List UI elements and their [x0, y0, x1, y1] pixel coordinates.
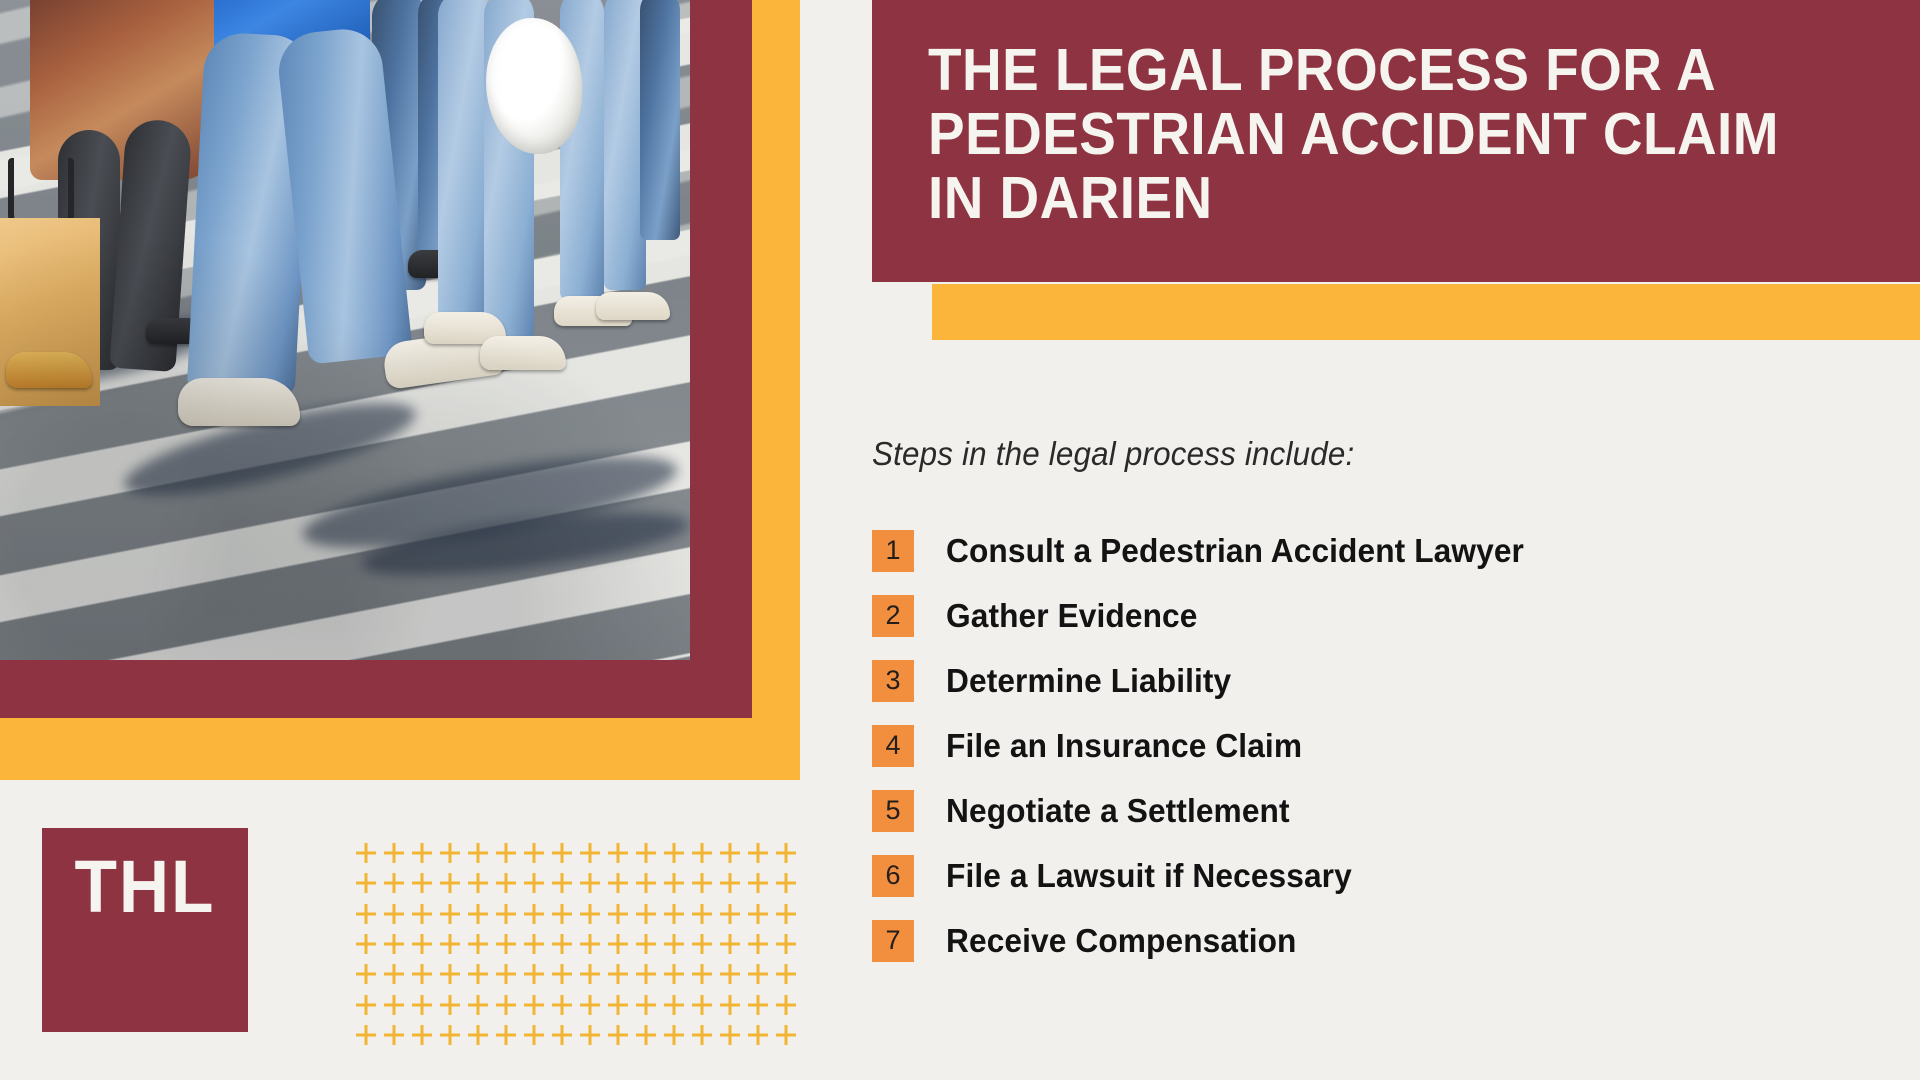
plus-mark-icon	[548, 899, 576, 929]
plus-mark-icon	[604, 959, 632, 989]
plus-mark-icon	[660, 929, 688, 959]
plus-mark-icon	[688, 929, 716, 959]
plus-mark-icon	[632, 838, 660, 868]
plus-mark-icon	[660, 838, 688, 868]
title-block: THE LEGAL PROCESS FOR A PEDESTRIAN ACCID…	[872, 0, 1920, 282]
plus-mark-icon	[604, 929, 632, 959]
page-title: THE LEGAL PROCESS FOR A PEDESTRIAN ACCID…	[928, 38, 1817, 230]
plus-mark-icon	[464, 1020, 492, 1050]
plus-mark-icon	[716, 899, 744, 929]
plus-mark-icon	[408, 959, 436, 989]
step-label: Determine Liability	[946, 662, 1231, 700]
plus-mark-icon	[548, 959, 576, 989]
plus-mark-icon	[352, 929, 380, 959]
plus-mark-icon	[492, 929, 520, 959]
plus-mark-icon	[660, 959, 688, 989]
plus-mark-icon	[436, 989, 464, 1019]
step-label: Gather Evidence	[946, 597, 1197, 635]
plus-mark-icon	[716, 1020, 744, 1050]
plus-mark-icon	[436, 838, 464, 868]
plus-mark-icon	[576, 899, 604, 929]
plus-mark-icon	[492, 868, 520, 898]
plus-mark-icon	[520, 959, 548, 989]
plus-mark-icon	[576, 1020, 604, 1050]
plus-mark-icon	[464, 959, 492, 989]
plus-mark-icon	[548, 989, 576, 1019]
step-number-badge: 1	[872, 530, 914, 572]
plus-mark-icon	[436, 959, 464, 989]
plus-mark-icon	[688, 838, 716, 868]
asphalt-texture	[0, 0, 690, 660]
plus-mark-icon	[548, 868, 576, 898]
plus-mark-icon	[520, 929, 548, 959]
plus-mark-icon	[464, 929, 492, 959]
step-number-badge: 5	[872, 790, 914, 832]
plus-mark-icon	[632, 899, 660, 929]
plus-mark-icon	[352, 899, 380, 929]
step-row: 3Determine Liability	[872, 648, 1892, 713]
plus-mark-icon	[408, 929, 436, 959]
plus-mark-icon	[772, 868, 800, 898]
plus-mark-icon	[660, 989, 688, 1019]
plus-mark-icon	[576, 929, 604, 959]
plus-mark-icon	[576, 989, 604, 1019]
step-number-badge: 6	[872, 855, 914, 897]
plus-mark-icon	[716, 989, 744, 1019]
step-number-badge: 2	[872, 595, 914, 637]
crosswalk-photo	[0, 0, 690, 660]
plus-mark-icon	[688, 868, 716, 898]
step-number-badge: 4	[872, 725, 914, 767]
plus-mark-icon	[380, 1020, 408, 1050]
plus-mark-icon	[408, 989, 436, 1019]
plus-mark-icon	[716, 868, 744, 898]
plus-mark-icon	[352, 868, 380, 898]
plus-mark-icon	[604, 868, 632, 898]
plus-mark-icon	[380, 838, 408, 868]
plus-mark-icon	[492, 1020, 520, 1050]
plus-mark-icon	[744, 959, 772, 989]
plus-mark-icon	[380, 989, 408, 1019]
steps-list: 1Consult a Pedestrian Accident Lawyer2Ga…	[872, 518, 1892, 973]
step-label: File a Lawsuit if Necessary	[946, 857, 1352, 895]
step-row: 5Negotiate a Settlement	[872, 778, 1892, 843]
plus-mark-icon	[436, 899, 464, 929]
plus-mark-icon	[492, 989, 520, 1019]
plus-mark-icon	[688, 959, 716, 989]
plus-mark-icon	[380, 899, 408, 929]
plus-mark-icon	[688, 1020, 716, 1050]
plus-mark-icon	[716, 838, 744, 868]
plus-mark-icon	[632, 868, 660, 898]
plus-pattern-decoration	[352, 838, 800, 1050]
step-label: Consult a Pedestrian Accident Lawyer	[946, 532, 1524, 570]
infographic-canvas: THL THE LEGAL PROCESS FOR A PEDESTRIAN A…	[0, 0, 1920, 1080]
step-number-badge: 7	[872, 920, 914, 962]
plus-mark-icon	[436, 929, 464, 959]
plus-mark-icon	[688, 899, 716, 929]
plus-mark-icon	[772, 989, 800, 1019]
plus-mark-icon	[604, 899, 632, 929]
plus-mark-icon	[688, 989, 716, 1019]
plus-mark-icon	[660, 899, 688, 929]
plus-mark-icon	[716, 929, 744, 959]
plus-mark-icon	[492, 959, 520, 989]
plus-mark-icon	[408, 868, 436, 898]
steps-intro-text: Steps in the legal process include:	[872, 435, 1354, 473]
plus-mark-icon	[632, 1020, 660, 1050]
step-row: 2Gather Evidence	[872, 583, 1892, 648]
plus-mark-icon	[576, 959, 604, 989]
step-label: File an Insurance Claim	[946, 727, 1302, 765]
plus-mark-icon	[604, 989, 632, 1019]
plus-mark-icon	[520, 868, 548, 898]
plus-mark-icon	[464, 989, 492, 1019]
plus-mark-icon	[744, 899, 772, 929]
plus-mark-icon	[352, 989, 380, 1019]
plus-mark-icon	[632, 989, 660, 1019]
title-accent-bar	[932, 284, 1920, 340]
plus-mark-icon	[492, 838, 520, 868]
plus-mark-icon	[464, 868, 492, 898]
plus-mark-icon	[716, 959, 744, 989]
plus-mark-icon	[632, 929, 660, 959]
step-label: Receive Compensation	[946, 922, 1297, 960]
plus-mark-icon	[408, 838, 436, 868]
plus-mark-icon	[520, 989, 548, 1019]
step-row: 6File a Lawsuit if Necessary	[872, 843, 1892, 908]
plus-mark-icon	[352, 838, 380, 868]
plus-mark-icon	[352, 1020, 380, 1050]
plus-mark-icon	[772, 1020, 800, 1050]
plus-mark-icon	[520, 838, 548, 868]
plus-mark-icon	[436, 868, 464, 898]
plus-mark-icon	[380, 959, 408, 989]
step-row: 7Receive Compensation	[872, 908, 1892, 973]
step-row: 1Consult a Pedestrian Accident Lawyer	[872, 518, 1892, 583]
plus-mark-icon	[380, 929, 408, 959]
plus-mark-icon	[576, 868, 604, 898]
plus-mark-icon	[744, 929, 772, 959]
plus-mark-icon	[576, 838, 604, 868]
plus-mark-icon	[408, 1020, 436, 1050]
plus-mark-icon	[660, 868, 688, 898]
plus-mark-icon	[380, 868, 408, 898]
plus-mark-icon	[772, 838, 800, 868]
plus-mark-icon	[744, 989, 772, 1019]
plus-mark-icon	[548, 838, 576, 868]
step-row: 4File an Insurance Claim	[872, 713, 1892, 778]
plus-mark-icon	[744, 868, 772, 898]
plus-mark-icon	[772, 899, 800, 929]
plus-mark-icon	[408, 899, 436, 929]
plus-mark-icon	[436, 1020, 464, 1050]
plus-mark-icon	[548, 1020, 576, 1050]
thl-logo: THL	[42, 828, 248, 1032]
plus-mark-icon	[520, 899, 548, 929]
thl-logo-text: THL	[75, 850, 216, 924]
plus-mark-icon	[464, 838, 492, 868]
step-number-badge: 3	[872, 660, 914, 702]
plus-mark-icon	[772, 959, 800, 989]
plus-mark-icon	[744, 1020, 772, 1050]
plus-mark-icon	[492, 899, 520, 929]
plus-mark-icon	[632, 959, 660, 989]
plus-mark-icon	[604, 1020, 632, 1050]
plus-mark-icon	[660, 1020, 688, 1050]
plus-mark-icon	[604, 838, 632, 868]
plus-mark-icon	[352, 959, 380, 989]
plus-mark-icon	[520, 1020, 548, 1050]
plus-mark-icon	[464, 899, 492, 929]
plus-mark-icon	[744, 838, 772, 868]
plus-mark-icon	[548, 929, 576, 959]
plus-mark-icon	[772, 929, 800, 959]
step-label: Negotiate a Settlement	[946, 792, 1290, 830]
